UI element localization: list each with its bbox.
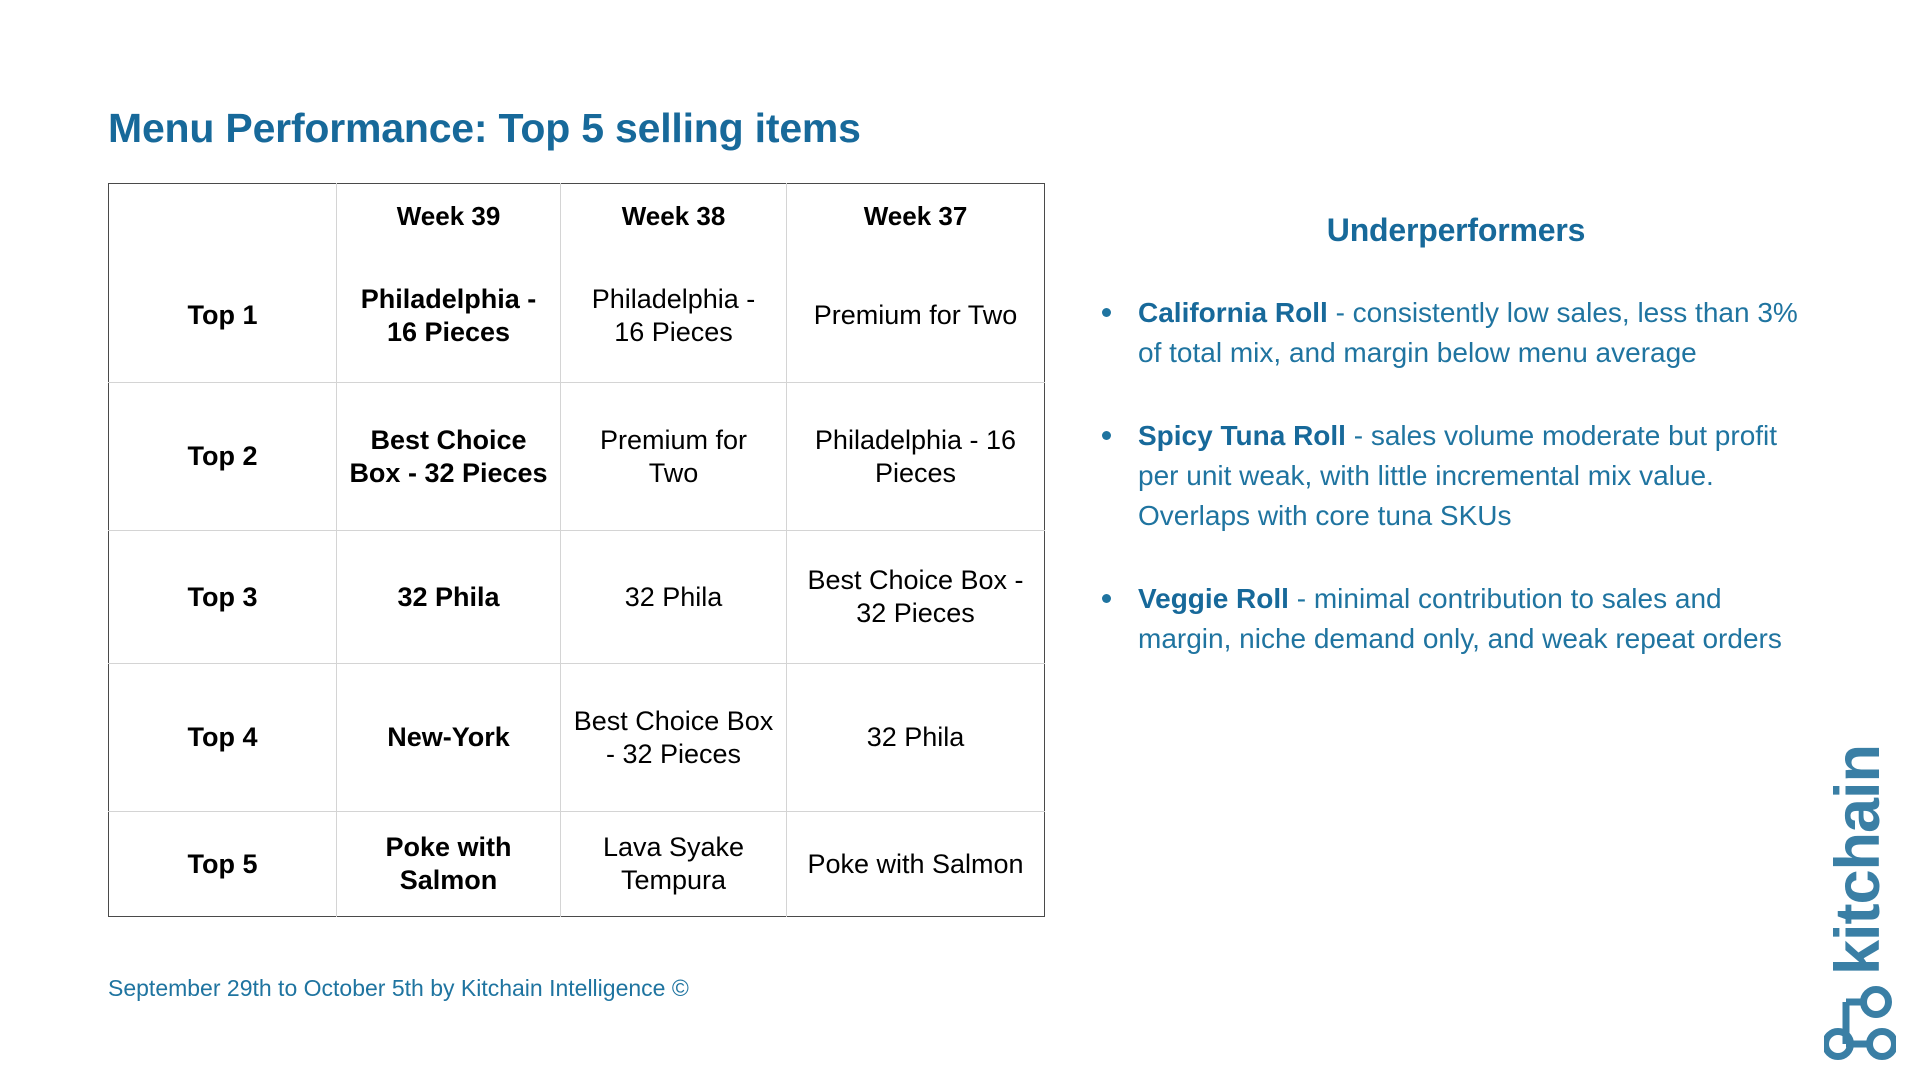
table-header-row: Week 39 Week 38 Week 37 <box>109 184 1045 250</box>
bullet-dot-icon <box>1102 431 1111 440</box>
table-row: Top 4 New-York Best Choice Box - 32 Piec… <box>109 664 1045 812</box>
cell-top3-week39: 32 Phila <box>337 531 561 664</box>
slide-canvas: Menu Performance: Top 5 selling items We… <box>0 0 1920 1080</box>
cell-top2-week39: Best Choice Box - 32 Pieces <box>337 383 561 531</box>
underperformer-name: Veggie Roll <box>1138 583 1289 614</box>
page-title: Menu Performance: Top 5 selling items <box>108 105 861 152</box>
cell-top4-week39: New-York <box>337 664 561 812</box>
row-label-top-2: Top 2 <box>109 383 337 531</box>
table-row: Top 2 Best Choice Box - 32 Pieces Premiu… <box>109 383 1045 531</box>
table-corner-cell <box>109 184 337 250</box>
cell-top1-week37: Premium for Two <box>787 250 1045 383</box>
cell-top1-week38: Philadelphia - 16 Pieces <box>561 250 787 383</box>
column-header-week-38: Week 38 <box>561 184 787 250</box>
row-label-top-5: Top 5 <box>109 812 337 917</box>
row-label-top-1: Top 1 <box>109 250 337 383</box>
row-label-top-4: Top 4 <box>109 664 337 812</box>
column-header-week-39: Week 39 <box>337 184 561 250</box>
table-row: Top 5 Poke with Salmon Lava Syake Tempur… <box>109 812 1045 917</box>
cell-top5-week39: Poke with Salmon <box>337 812 561 917</box>
underperformers-heading: Underperformers <box>1096 212 1816 249</box>
cell-top3-week37: Best Choice Box - 32 Pieces <box>787 531 1045 664</box>
cell-top3-week38: 32 Phila <box>561 531 787 664</box>
cell-top2-week38: Premium for Two <box>561 383 787 531</box>
table-row: Top 3 32 Phila 32 Phila Best Choice Box … <box>109 531 1045 664</box>
list-item: Spicy Tuna Roll - sales volume moderate … <box>1096 416 1816 537</box>
underperformers-panel: Underperformers California Roll - consis… <box>1096 212 1816 659</box>
footer-attribution: September 29th to October 5th by Kitchai… <box>108 975 689 1002</box>
underperformer-name: Spicy Tuna Roll <box>1138 420 1346 451</box>
list-item: Veggie Roll - minimal contribution to sa… <box>1096 579 1816 660</box>
cell-top5-week37: Poke with Salmon <box>787 812 1045 917</box>
underperformers-list: California Roll - consistently low sales… <box>1096 293 1816 659</box>
kitchain-logo: kitchain <box>1816 708 1902 1068</box>
cell-top1-week39: Philadelphia - 16 Pieces <box>337 250 561 383</box>
cell-top4-week38: Best Choice Box - 32 Pieces <box>561 664 787 812</box>
row-label-top-3: Top 3 <box>109 531 337 664</box>
column-header-week-37: Week 37 <box>787 184 1045 250</box>
cell-top4-week37: 32 Phila <box>787 664 1045 812</box>
cell-top2-week37: Philadelphia - 16 Pieces <box>787 383 1045 531</box>
cell-top5-week38: Lava Syake Tempura <box>561 812 787 917</box>
bullet-dot-icon <box>1102 594 1111 603</box>
underperformer-name: California Roll <box>1138 297 1328 328</box>
node-graph-icon <box>1824 984 1896 1062</box>
list-item: California Roll - consistently low sales… <box>1096 293 1816 374</box>
menu-performance-table: Week 39 Week 38 Week 37 Top 1 Philadelph… <box>108 183 1044 917</box>
table-row: Top 1 Philadelphia - 16 Pieces Philadelp… <box>109 250 1045 383</box>
kitchain-wordmark: kitchain <box>1816 710 1900 1010</box>
bullet-dot-icon <box>1102 308 1111 317</box>
